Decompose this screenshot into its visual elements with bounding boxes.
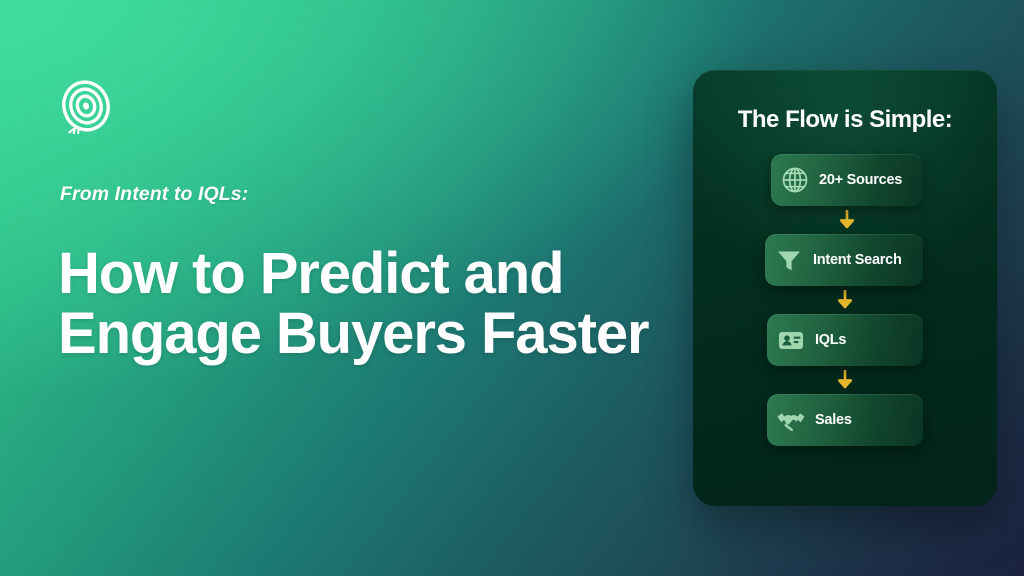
- flow-step-iqls[interactable]: IQLs: [767, 314, 923, 366]
- flow-step-sales[interactable]: Sales: [767, 394, 923, 446]
- flow-steps-list: 20+ Sources Intent Search: [693, 154, 997, 446]
- handshake-icon: [767, 394, 815, 446]
- headline-line-1: How to Predict and: [58, 241, 563, 306]
- flow-step-label: Sales: [815, 412, 852, 428]
- flow-step-label: Intent Search: [813, 252, 902, 268]
- flow-step-sources[interactable]: 20+ Sources: [771, 154, 923, 206]
- globe-icon: [771, 154, 819, 206]
- brand-logo: [58, 78, 114, 134]
- flow-step-intent-search[interactable]: Intent Search: [765, 234, 923, 286]
- flow-card: The Flow is Simple: 20+ Sources: [693, 70, 997, 506]
- concentric-spiral-logo-icon: [58, 78, 114, 134]
- headline-line-2: Engage Buyers Faster: [58, 304, 678, 364]
- id-badge-icon: [767, 314, 815, 366]
- page-title: How to Predict and Engage Buyers Faster: [58, 244, 678, 365]
- funnel-icon: [765, 234, 813, 286]
- flow-step-label: IQLs: [815, 332, 846, 348]
- arrow-down-icon: [693, 292, 997, 308]
- arrow-down-icon: [693, 372, 997, 388]
- flow-card-title: The Flow is Simple:: [693, 106, 997, 134]
- flow-step-label: 20+ Sources: [819, 172, 902, 188]
- hero-panel: From Intent to IQLs: How to Predict and …: [58, 0, 678, 576]
- hero-eyebrow: From Intent to IQLs:: [60, 183, 248, 206]
- arrow-down-icon: [693, 212, 997, 228]
